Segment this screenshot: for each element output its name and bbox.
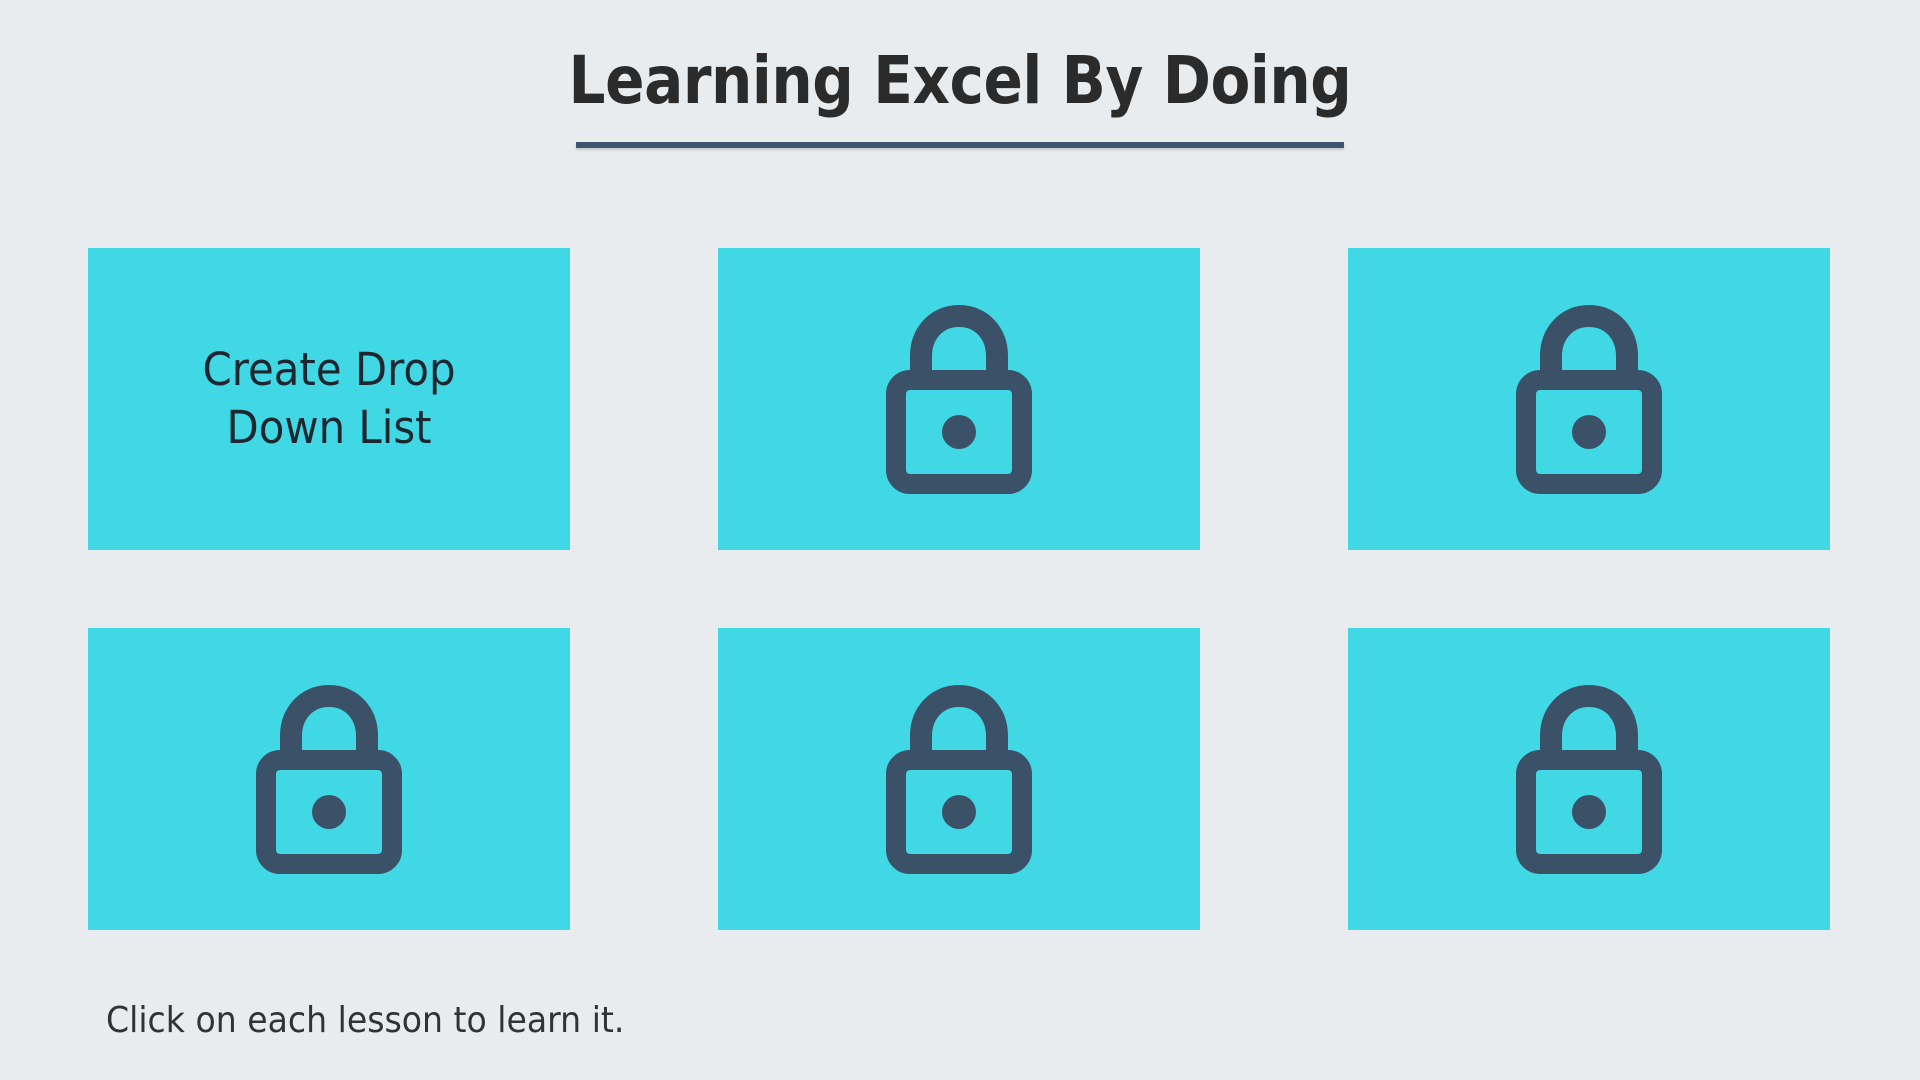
lock-icon	[1388, 638, 1790, 920]
footer-instruction-text: Click on each lesson to learn it.	[106, 1000, 624, 1041]
lesson-dashboard: Learning Excel By Doing Create Drop Down…	[0, 0, 1920, 1080]
page-title: Learning Excel By Doing	[115, 46, 1805, 116]
lock-icon	[128, 638, 530, 920]
title-underline-rule	[576, 142, 1344, 148]
lesson-card-5[interactable]	[718, 628, 1200, 930]
lesson-card-6[interactable]	[1348, 628, 1830, 930]
lesson-grid: Create Drop Down List	[88, 248, 1828, 930]
lock-icon	[758, 258, 1160, 540]
lesson-card-1-label: Create Drop Down List	[202, 341, 455, 456]
lesson-card-1[interactable]: Create Drop Down List	[88, 248, 570, 550]
lock-icon	[758, 638, 1160, 920]
lesson-card-4[interactable]	[88, 628, 570, 930]
lesson-card-3[interactable]	[1348, 248, 1830, 550]
lock-icon	[1388, 258, 1790, 540]
title-block: Learning Excel By Doing	[0, 46, 1920, 148]
lesson-card-2[interactable]	[718, 248, 1200, 550]
